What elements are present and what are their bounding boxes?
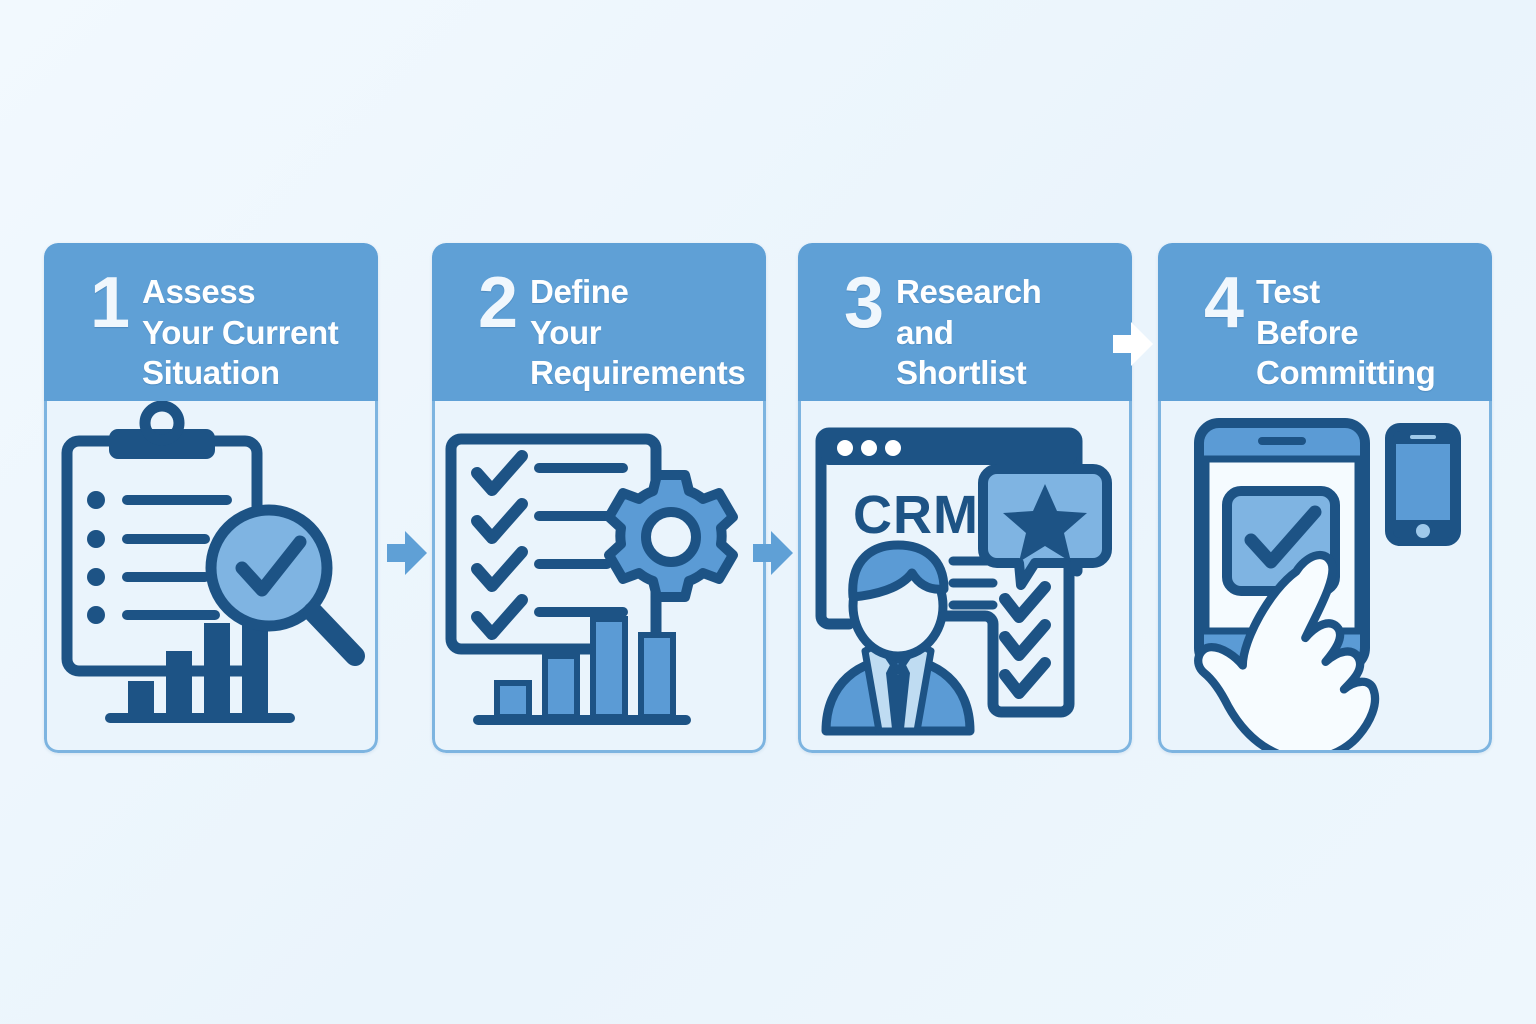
step-4-header: 4 Test Before Committing <box>1158 243 1492 401</box>
star-bubble-icon <box>983 469 1107 585</box>
step-2-title: Define Your Requirements <box>530 269 745 394</box>
step-card-2[interactable]: 2 Define Your Requirements <box>432 243 766 753</box>
step-1-illustration <box>44 401 378 753</box>
bar-chart-icon <box>473 619 691 725</box>
assess-situation-illustration <box>47 401 375 753</box>
step-4-number: 4 <box>1204 269 1242 338</box>
step-3-header: 3 Research and Shortlist <box>798 243 1132 401</box>
shortlist-checks-icon <box>1005 587 1045 693</box>
phone-home-button-icon <box>1416 524 1430 538</box>
step-card-1[interactable]: 1 Assess Your Current Situation <box>44 243 378 753</box>
clipboard-list-icon <box>87 491 227 624</box>
crm-screen-label: CRM <box>853 485 979 545</box>
smartphone-icon <box>1389 427 1457 542</box>
step-card-3[interactable]: 3 Research and Shortlist CRM <box>798 243 1132 753</box>
arrow-step1-to-step2 <box>385 530 429 576</box>
step-3-number: 3 <box>844 269 882 338</box>
gear-icon <box>609 475 733 597</box>
person-avatar-icon <box>826 545 970 731</box>
clipboard-ring-icon <box>145 406 179 440</box>
step-4-illustration <box>1158 401 1492 753</box>
test-before-committing-illustration <box>1161 401 1489 753</box>
arrow-step3-to-step4 <box>1111 321 1155 367</box>
step-2-header: 2 Define Your Requirements <box>432 243 766 401</box>
step-4-title: Test Before Committing <box>1256 269 1435 394</box>
infographic-canvas: 1 Assess Your Current Situation <box>0 0 1536 1024</box>
tablet-speaker-icon <box>1258 437 1306 445</box>
step-1-header: 1 Assess Your Current Situation <box>44 243 378 401</box>
arrow-step2-to-step3 <box>751 530 795 576</box>
step-3-illustration: CRM <box>798 401 1132 753</box>
result-lines-icon <box>953 561 993 605</box>
step-2-illustration <box>432 401 766 753</box>
step-1-title: Assess Your Current Situation <box>142 269 338 394</box>
step-3-title: Research and Shortlist <box>896 269 1041 394</box>
checklist-lines-icon <box>539 468 623 612</box>
process-steps-row: 1 Assess Your Current Situation <box>44 243 1492 755</box>
step-2-number: 2 <box>478 269 516 338</box>
magnifier-check-icon <box>211 510 355 656</box>
browser-dot-2 <box>861 440 877 456</box>
phone-speaker-icon <box>1410 435 1436 439</box>
step-1-number: 1 <box>90 269 128 338</box>
define-requirements-illustration <box>435 401 763 753</box>
research-shortlist-illustration: CRM <box>801 401 1129 753</box>
checklist-icon <box>477 456 522 634</box>
browser-dot-1 <box>837 440 853 456</box>
browser-dot-3 <box>885 440 901 456</box>
step-card-4[interactable]: 4 Test Before Committing <box>1158 243 1492 753</box>
